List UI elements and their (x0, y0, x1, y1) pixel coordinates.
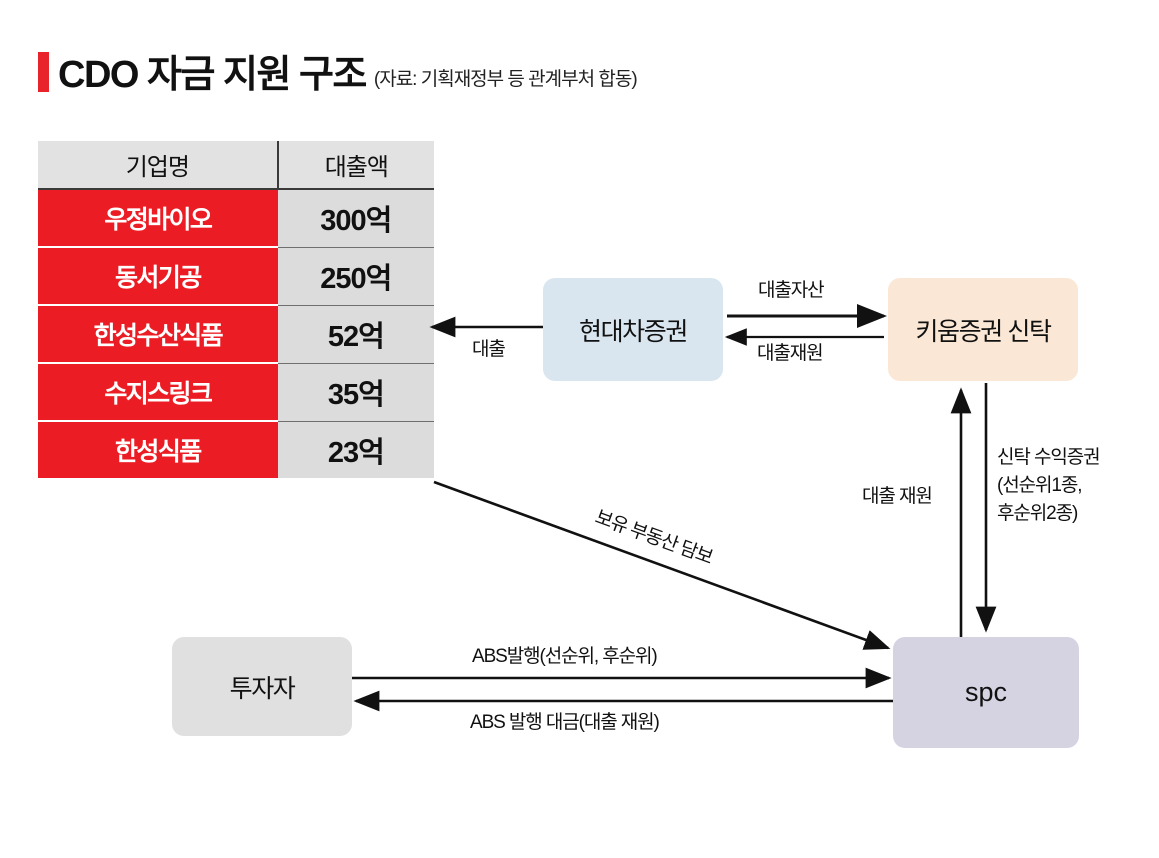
edge-label-spc-loan-fund: 대출 재원 (862, 484, 932, 509)
loan-table: 기업명 대출액 우정바이오 300억 동서기공 250억 한성수산식품 52억 … (38, 141, 434, 478)
table-row: 수지스링크 35억 (38, 363, 434, 421)
trust-security-line-3: 후순위2종) (997, 500, 1099, 528)
cell-amount: 52억 (278, 305, 434, 363)
cell-company: 우정바이오 (38, 189, 278, 247)
column-header-company: 기업명 (38, 141, 278, 189)
table-row: 우정바이오 300억 (38, 189, 434, 247)
node-label: spc (965, 677, 1007, 708)
cell-company: 한성수산식품 (38, 305, 278, 363)
edge-label-abs-payment: ABS 발행 대금(대출 재원) (470, 710, 659, 735)
edge-label-loan-fund: 대출재원 (757, 341, 823, 366)
table-header-row: 기업명 대출액 (38, 141, 434, 189)
edge-label-loan: 대출 (472, 337, 505, 362)
node-label: 키움증권 신탁 (915, 312, 1050, 348)
cell-amount: 300억 (278, 189, 434, 247)
trust-security-line-2: (선순위1종, (997, 472, 1099, 500)
cell-amount: 35억 (278, 363, 434, 421)
page-title: CDO 자금 지원 구조 (자료: 기획재정부 등 관계부처 합동) (38, 52, 637, 95)
title-source-text: (자료: 기획재정부 등 관계부처 합동) (374, 64, 637, 91)
cell-company: 동서기공 (38, 247, 278, 305)
edge-label-collateral: 보유 부동산 담보 (591, 505, 715, 571)
node-investor: 투자자 (172, 637, 352, 736)
table-row: 한성식품 23억 (38, 421, 434, 478)
node-hyundai-securities: 현대차증권 (543, 278, 723, 381)
cell-company: 한성식품 (38, 421, 278, 478)
table-row: 동서기공 250억 (38, 247, 434, 305)
edge-label-loan-asset: 대출자산 (758, 278, 824, 303)
cell-amount: 250억 (278, 247, 434, 305)
edge-label-trust-security: 신탁 수익증권 (선순위1종, 후순위2종) (997, 444, 1099, 528)
table-row: 한성수산식품 52억 (38, 305, 434, 363)
arrow-collateral (434, 482, 888, 648)
trust-security-line-1: 신탁 수익증권 (997, 444, 1099, 472)
title-main-text: CDO 자금 지원 구조 (58, 55, 366, 95)
node-label: 현대차증권 (579, 312, 687, 348)
edge-label-abs-issue: ABS발행(선순위, 후순위) (472, 644, 657, 669)
cell-amount: 23억 (278, 421, 434, 478)
title-accent-bar (38, 52, 49, 92)
node-spc: spc (893, 637, 1079, 748)
node-kiwoom-trust: 키움증권 신탁 (888, 278, 1078, 381)
column-header-amount: 대출액 (278, 141, 434, 189)
cell-company: 수지스링크 (38, 363, 278, 421)
node-label: 투자자 (230, 669, 295, 705)
